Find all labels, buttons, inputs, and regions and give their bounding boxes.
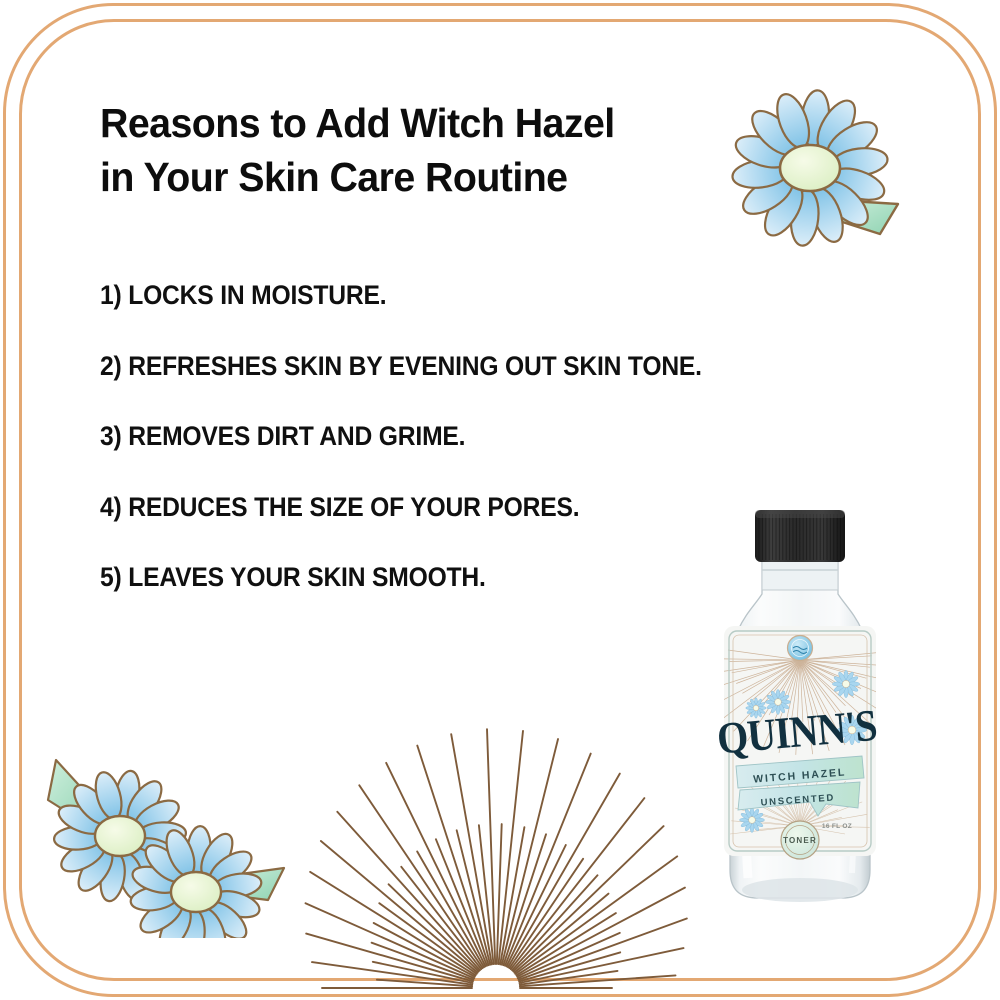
toner-seal-text: TONER (783, 836, 817, 845)
reasons-list: 1) LOCKS IN MOISTURE. 2) REFRESHES SKIN … (100, 282, 880, 591)
flower-center (780, 145, 840, 191)
flower-center (95, 816, 145, 856)
volume-text: 16 FL OZ (822, 823, 852, 830)
daisy-flower-pair-icon (28, 748, 328, 938)
toner-seal: TONER (781, 821, 819, 859)
label-seal-icon (788, 636, 813, 661)
list-item: 1) LOCKS IN MOISTURE. (100, 282, 825, 309)
list-item: 5) LEAVES YOUR SKIN SMOOTH. (100, 564, 825, 591)
flower-center (171, 872, 221, 912)
headline-block: Reasons to Add Witch Hazel in Your Skin … (100, 96, 680, 204)
bottle-base (742, 878, 858, 902)
bottle-label: QUINN'S WITCH HAZEL UNSCENTED 16 FL OZ T… (700, 626, 905, 859)
list-item: 3) REMOVES DIRT AND GRIME. (100, 423, 825, 450)
list-item: 2) REFRESHES SKIN BY EVENING OUT SKIN TO… (100, 353, 825, 380)
list-item: 4) REDUCES THE SIZE OF YOUR PORES. (100, 494, 825, 521)
page-title: Reasons to Add Witch Hazel in Your Skin … (100, 96, 657, 204)
daisy-flower-icon (684, 82, 936, 264)
